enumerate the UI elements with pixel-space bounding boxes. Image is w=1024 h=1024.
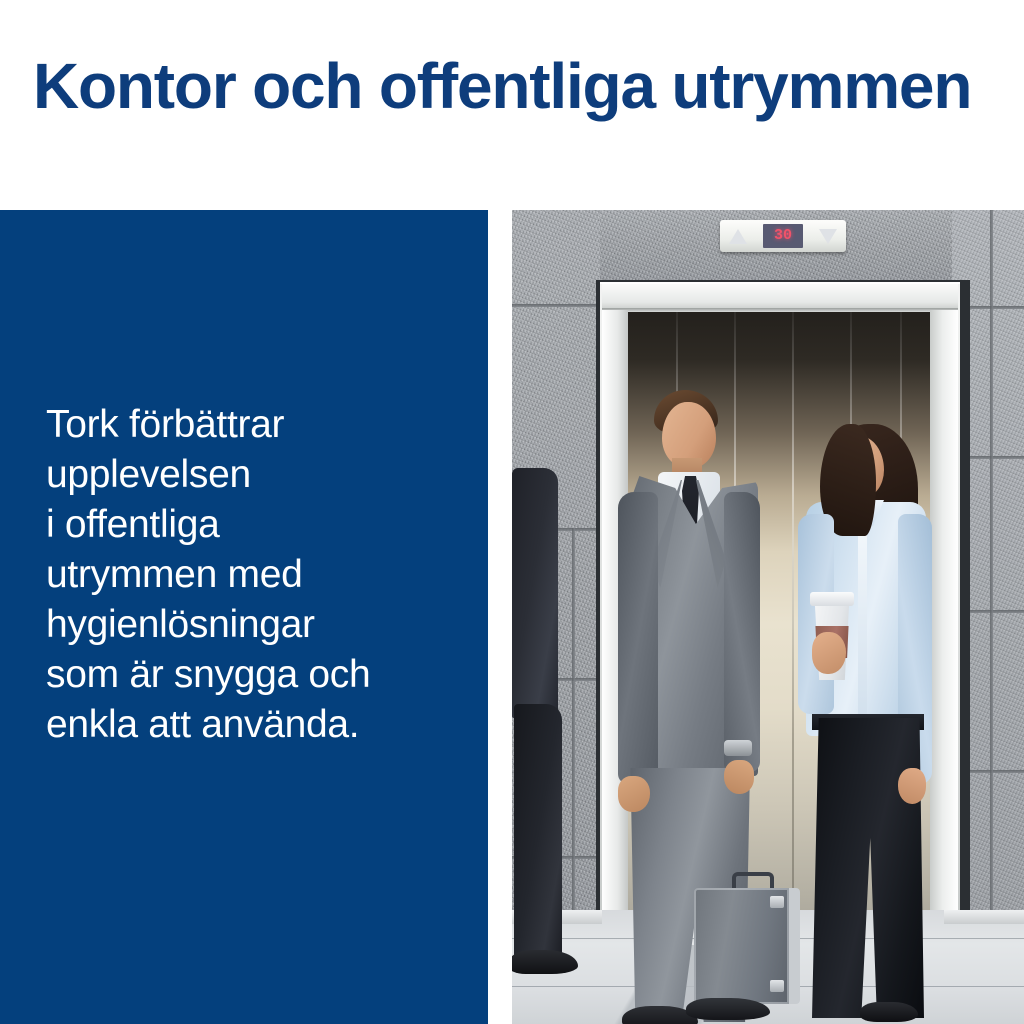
hero-photo: 30 xyxy=(512,210,1024,1024)
man-arm-right xyxy=(724,492,760,772)
woman-hand-holding-cup xyxy=(812,632,846,674)
floor-base-strip-right xyxy=(944,910,1024,924)
triangle-up-icon xyxy=(729,229,747,244)
person-woman-blue-shirt xyxy=(798,418,944,1024)
panel-body-text: Tork förbättrar upplevelsen i offentliga… xyxy=(46,400,466,750)
dark-suit-torso xyxy=(512,468,558,718)
woman-hand-right xyxy=(898,768,926,804)
body-line: upplevelsen xyxy=(46,450,466,500)
header-band: Kontor och offentliga utrymmen xyxy=(0,0,1024,210)
wristwatch xyxy=(724,740,752,756)
man-hand-right xyxy=(724,760,754,794)
triangle-down-icon xyxy=(819,229,837,244)
elevator-indicator-panel[interactable]: 30 xyxy=(720,220,846,252)
woman-shirt-placket xyxy=(858,528,867,736)
blue-copy-panel: Tork förbättrar upplevelsen i offentliga… xyxy=(0,210,488,1024)
man-hand-left xyxy=(618,776,650,812)
body-line: utrymmen med xyxy=(46,550,466,600)
body-line: hygienlösningar xyxy=(46,600,466,650)
man-arm-left xyxy=(618,492,658,784)
woman-trousers xyxy=(812,718,924,1018)
body-line: enkla att använda. xyxy=(46,700,466,750)
dark-suit-legs xyxy=(514,704,562,964)
body-line: som är snygga och xyxy=(46,650,466,700)
person-man-grey-suit xyxy=(620,388,770,1024)
woman-shoe xyxy=(860,1002,918,1022)
stone-seam xyxy=(990,210,993,922)
body-line: i offentliga xyxy=(46,500,466,550)
man-shoe-right xyxy=(686,998,770,1020)
stone-seam xyxy=(512,304,600,307)
body-line: Tork förbättrar xyxy=(46,400,466,450)
person-dark-suit-partial xyxy=(512,468,574,968)
dark-suit-shoe xyxy=(512,950,578,974)
briefcase xyxy=(694,888,800,1004)
page-title: Kontor och offentliga utrymmen xyxy=(33,48,971,124)
briefcase-latch xyxy=(770,896,784,908)
briefcase-latch xyxy=(770,980,784,992)
door-frame-lintel-shadow xyxy=(602,308,958,312)
coffee-cup-lid xyxy=(810,592,854,606)
floor-indicator-display: 30 xyxy=(763,224,803,248)
door-frame-lintel xyxy=(602,284,958,310)
